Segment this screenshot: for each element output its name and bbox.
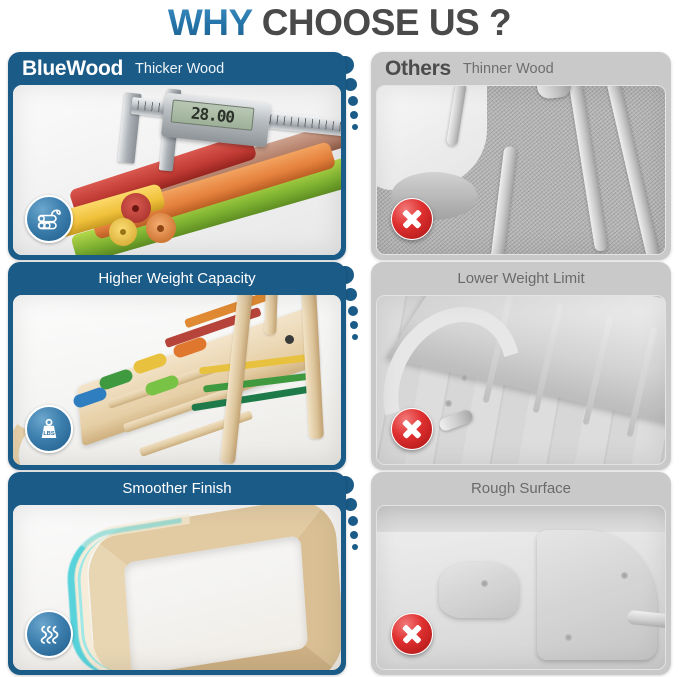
feature-title: Higher Weight Capacity: [98, 270, 255, 287]
feature-label: Thicker Wood: [135, 61, 224, 77]
brand-name-other: Others: [385, 57, 451, 81]
photo-frame: [376, 505, 666, 670]
card-theirs-thinner-wood: Others Thinner Wood: [371, 52, 671, 260]
photo-frame: [13, 505, 341, 670]
infographic-root: WHY CHOOSE US ? BlueWood Thicker Wood: [0, 0, 679, 677]
card-theirs-rough-surface: Rough Surface: [371, 472, 671, 675]
card-header: Smoother Finish: [8, 472, 346, 505]
title-highlight: WHY: [168, 2, 262, 44]
comparison-row-3: Smoother Finish: [0, 472, 679, 675]
feature-label-other: Thinner Wood: [463, 61, 554, 77]
card-ours-thicker-wood: BlueWood Thicker Wood: [8, 52, 346, 260]
red-x-icon: [391, 613, 433, 655]
feature-title: Smoother Finish: [122, 480, 231, 497]
comparison-row-2: Higher Weight Capacity: [0, 262, 679, 470]
caliper-body: 28.00: [161, 93, 271, 148]
card-header: Rough Surface: [371, 472, 671, 505]
feature-title-other: Lower Weight Limit: [457, 270, 584, 287]
caliper-display: 28.00: [171, 99, 255, 130]
photo-frame: LBS: [13, 295, 341, 465]
weight-lbs-icon: LBS: [25, 405, 73, 453]
photo-frame: [376, 295, 666, 465]
card-header: Higher Weight Capacity: [8, 262, 346, 295]
title-rest: CHOOSE US ?: [262, 2, 511, 44]
caliper-reading: 28.00: [190, 103, 235, 126]
svg-text:LBS: LBS: [43, 431, 55, 437]
card-header: Others Thinner Wood: [371, 52, 671, 85]
card-ours-weight-capacity: Higher Weight Capacity: [8, 262, 346, 470]
card-theirs-weight-limit: Lower Weight Limit: [371, 262, 671, 470]
wood-log-icon: [25, 195, 73, 243]
comparison-row-1: BlueWood Thicker Wood: [0, 52, 679, 260]
photo-frame: [376, 85, 666, 255]
card-header: BlueWood Thicker Wood: [8, 52, 346, 85]
red-x-icon: [391, 408, 433, 450]
photo-frame: 28.00: [13, 85, 341, 255]
page-title: WHY CHOOSE US ?: [0, 0, 679, 46]
card-ours-smoother-finish: Smoother Finish: [8, 472, 346, 675]
smooth-waves-icon: [25, 610, 73, 658]
card-header: Lower Weight Limit: [371, 262, 671, 295]
red-x-icon: [391, 198, 433, 240]
feature-title-other: Rough Surface: [471, 480, 571, 497]
brand-name: BlueWood: [22, 57, 123, 81]
